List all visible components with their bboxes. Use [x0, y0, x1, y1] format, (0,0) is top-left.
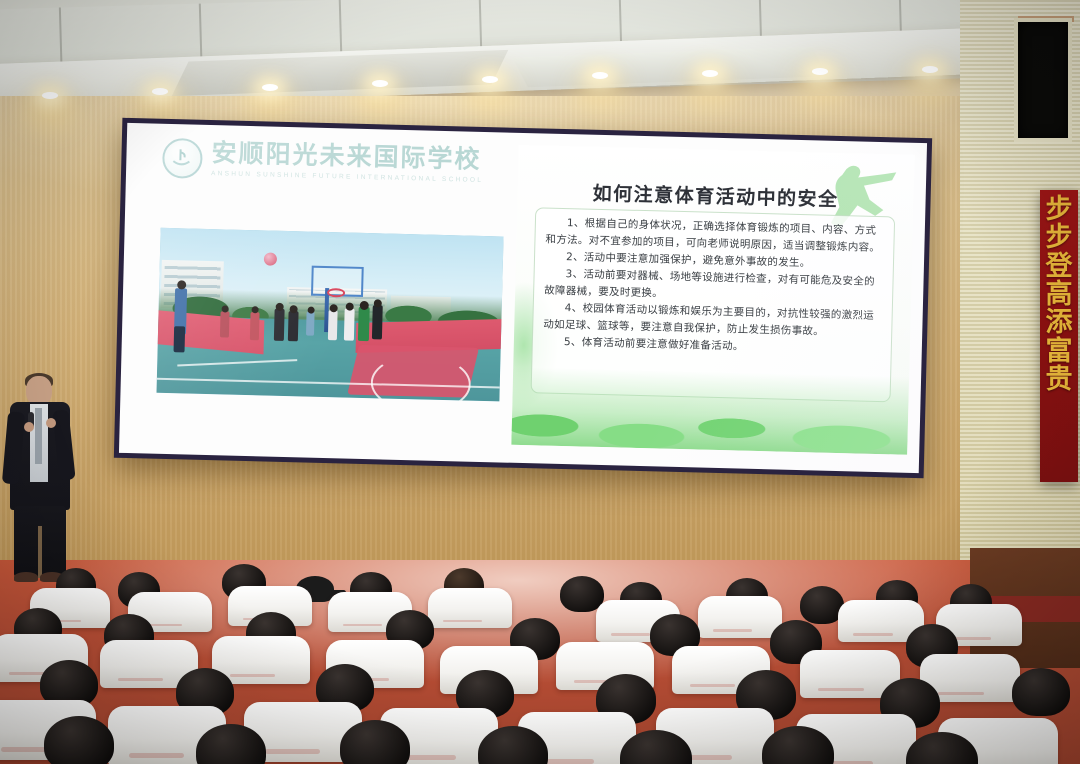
- audience-head: [44, 716, 114, 764]
- banner-char: 富: [1046, 338, 1073, 366]
- banner-char: 高: [1046, 281, 1073, 309]
- red-vertical-banner: 步 步 登 高 添 富 贵: [1040, 190, 1078, 482]
- speaker-hand: [46, 418, 56, 428]
- player: [344, 308, 355, 340]
- player: [328, 310, 338, 340]
- school-crest-icon: [162, 138, 203, 179]
- speaker-leg-gap: [38, 526, 42, 578]
- ceiling-downlight: [812, 68, 828, 75]
- audience-seat: [428, 588, 512, 628]
- panel-green-grass-decoration: [511, 367, 909, 455]
- ceiling-downlight: [152, 88, 168, 95]
- banner-char: 步: [1046, 224, 1073, 252]
- audience-head: [1012, 668, 1070, 716]
- player-legs: [174, 326, 186, 352]
- ceiling-downlight: [42, 92, 58, 99]
- player: [274, 309, 285, 341]
- banner-char: 登: [1046, 253, 1073, 281]
- slide-content-panel: 如何注意体育活动中的安全 1、根据自己的身体状况，正确选择体育锻炼的项目、内容、…: [511, 145, 914, 455]
- ceiling-downlight: [372, 80, 388, 87]
- basketball-photo: [156, 228, 503, 402]
- player: [358, 307, 370, 341]
- projection-screen: 安顺阳光未来国际学校 ANSHUN SUNSHINE FUTURE INTERN…: [119, 123, 927, 473]
- banner-char: 贵: [1046, 366, 1073, 394]
- speaker-tie: [35, 408, 42, 464]
- speaker-hand: [24, 422, 34, 432]
- audience-seat: [698, 596, 782, 638]
- ceiling-downlight: [702, 70, 718, 77]
- speaker-shoe: [14, 572, 38, 582]
- player: [372, 305, 383, 339]
- dark-window-opening: [1014, 18, 1072, 142]
- ceiling-downlight: [922, 66, 938, 73]
- player: [288, 311, 299, 341]
- banner-char: 添: [1046, 309, 1073, 337]
- ceiling-downlight: [592, 72, 608, 79]
- player: [220, 311, 230, 337]
- school-logo-header: 安顺阳光未来国际学校 ANSHUN SUNSHINE FUTURE INTERN…: [162, 138, 484, 186]
- speaker-presenter: [2, 376, 76, 588]
- school-name-cn: 安顺阳光未来国际学校: [211, 141, 484, 173]
- ceiling-downlight: [482, 76, 498, 83]
- projection-screen-frame: 安顺阳光未来国际学校 ANSHUN SUNSHINE FUTURE INTERN…: [114, 118, 932, 478]
- player: [250, 312, 260, 340]
- hoop-ring: [327, 288, 345, 297]
- player: [306, 312, 315, 336]
- banner-char: 步: [1046, 196, 1073, 224]
- ceiling-downlight: [262, 84, 278, 91]
- auditorium-photo: 安顺阳光未来国际学校 ANSHUN SUNSHINE FUTURE INTERN…: [0, 0, 1080, 764]
